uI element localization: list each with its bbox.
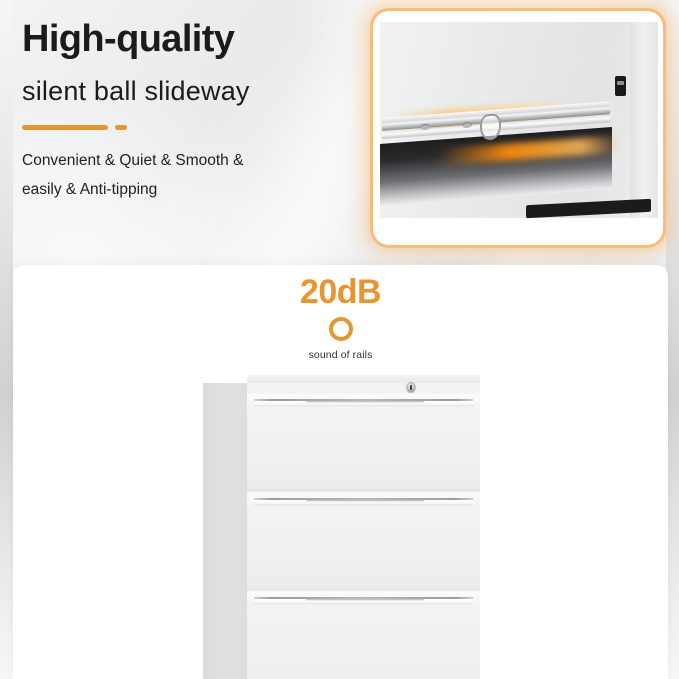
photo-lock-icon [615,76,626,96]
cabinet-front [247,383,480,679]
drawer-handle [254,498,473,506]
headline-block: High-quality silent ball slideway Conven… [22,18,362,204]
drawer-handle [254,597,473,605]
cabinet-drawer [247,592,480,679]
rail-closeup-photo [376,14,660,242]
cabinet-drawer [247,493,480,590]
infographic-page: High-quality silent ball slideway Conven… [0,0,679,679]
accent-divider [22,125,362,130]
feature-list: Convenient & Quiet & Smooth & easily & A… [22,147,362,204]
cabinet-lock-icon [407,383,415,392]
db-value: 20dB [13,275,668,309]
handle-groove-notch [306,500,424,503]
feature-line-2: easily & Anti-tipping [22,176,362,205]
drawer-handle [254,399,473,407]
db-callout: 20dB sound of rails [13,275,668,361]
divider-bar-long [22,125,108,130]
cabinet-side-panel [203,383,247,679]
handle-groove-shadow [254,603,473,605]
noise-scale-card: 20dB sound of rails 0dB 10dB Can't hear … [13,265,668,679]
handle-groove-notch [306,401,424,404]
db-caption: sound of rails [13,349,668,361]
cabinet-drawer [247,394,480,491]
handle-groove-notch [306,599,424,602]
left-edge-strip [0,0,13,679]
filing-cabinet [203,375,480,679]
photo-cabinet-side [630,22,658,218]
page-title: High-quality [22,18,362,61]
rail-closeup-photo-frame [373,11,663,245]
divider-bar-short [115,125,127,130]
feature-line-1: Convenient & Quiet & Smooth & [22,147,362,176]
handle-groove-shadow [254,405,473,407]
page-subtitle: silent ball slideway [22,75,362,107]
handle-groove-shadow [254,504,473,506]
db-ring-icon [329,317,353,341]
